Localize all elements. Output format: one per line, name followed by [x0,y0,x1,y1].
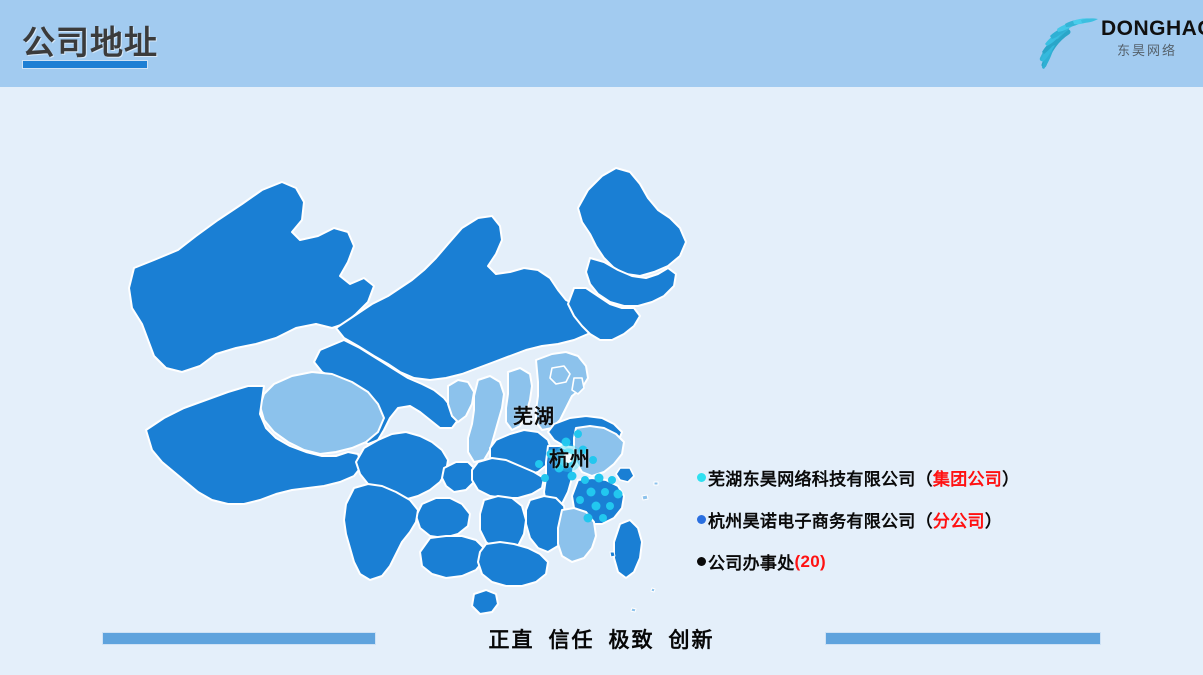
footer-bar-right [825,632,1101,645]
legend-item-label: 杭州昊诺电子商务有限公司（ [708,507,933,532]
island-misc-2 [631,608,636,612]
office-marker [574,430,582,438]
legend: 芜湖东昊网络科技有限公司（ 集团公司 ） 杭州昊诺电子商务有限公司（ 分公司 ）… [697,462,1117,588]
office-marker [592,502,601,511]
office-marker [606,502,614,510]
legend-item-label: 芜湖东昊网络科技有限公司（ [708,465,933,490]
title-underline-accent [22,60,148,69]
province-taiwan [614,520,642,578]
footer-slogan-word: 正直 [489,629,535,652]
legend-item-emphasis: 分公司 [933,507,985,532]
island-misc-3 [651,588,655,592]
legend-item-suffix: ） [1002,465,1019,490]
map-label-hangzhou: 杭州 [549,443,591,472]
page-title: 公司地址 [22,16,158,64]
legend-item-offices[interactable]: 公司办事处 (20) [697,546,1117,577]
office-marker [608,476,616,484]
legend-item-emphasis: (20) [795,552,826,572]
office-marker [568,472,577,481]
office-marker [535,460,543,468]
donghao-wing-mark-icon [1035,6,1103,74]
legend-item-group-company[interactable]: 芜湖东昊网络科技有限公司（ 集团公司 ） [697,462,1117,493]
legend-bullet-icon [697,515,706,524]
office-marker [601,488,609,496]
office-marker [581,476,589,484]
municipality-beijing [550,366,570,384]
legend-item-emphasis: 集团公司 [933,465,1002,490]
footer-bar-left [102,632,376,645]
logo-wordmark: DONGHAO [1101,18,1193,39]
legend-bullet-icon [697,557,706,566]
province-ningxia [448,380,474,422]
island-penghu [610,552,615,557]
province-hainan [472,590,498,614]
office-marker [541,474,549,482]
header-band [0,0,1203,87]
footer-slogan-word: 极致 [609,629,655,652]
legend-item-suffix: ） [985,507,1002,532]
municipality-chongqing [442,462,476,492]
office-marker [584,514,593,523]
office-marker [599,514,607,522]
footer-slogan-word: 信任 [549,629,595,652]
municipality-tianjin [572,378,584,394]
legend-item-branch-company[interactable]: 杭州昊诺电子商务有限公司（ 分公司 ） [697,504,1117,535]
map-label-wuhu: 芜湖 [513,400,555,429]
island-misc-1 [654,482,658,485]
china-map[interactable] [96,128,716,618]
province-guangxi [420,536,484,578]
legend-item-label: 公司办事处 [708,549,795,574]
office-marker [614,490,623,499]
office-marker [587,488,596,497]
legend-bullet-icon [697,473,706,482]
office-marker [576,496,584,504]
brand-logo: DONGHAO 东昊网络 [1035,4,1195,78]
province-yunnan [344,484,418,580]
municipality-shanghai [616,468,634,482]
logo-subtitle: 东昊网络 [1101,44,1193,57]
footer-slogan-word: 创新 [669,629,715,652]
province-guizhou [416,498,470,538]
island-zhoushan [642,495,648,500]
office-marker [595,474,604,483]
